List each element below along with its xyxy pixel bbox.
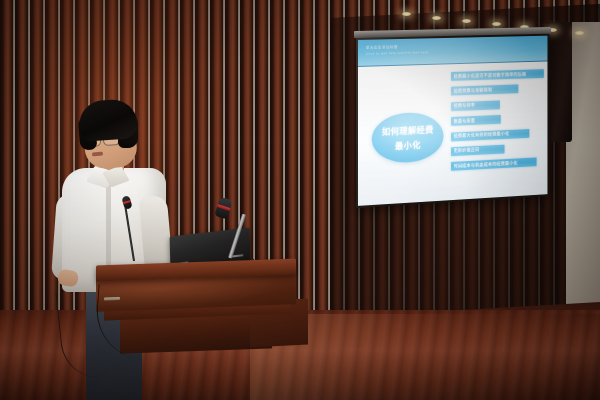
lecture-hall-photo: 单击此处添加标题 Click to add title subtitle tex…	[0, 0, 600, 400]
microphone-band-secondary	[123, 200, 131, 204]
slide-bar-text-0: 经费最小化是可不是对数字简单的压缩	[453, 71, 526, 79]
screen-frame: 单击此处添加标题 Click to add title subtitle tex…	[356, 34, 549, 208]
slide-bar-text-5: 无形价值正向	[453, 147, 479, 154]
ellipse-line-2: 最小化	[395, 138, 421, 151]
recessed-downlight-6	[575, 31, 584, 35]
projection-screen: 单击此处添加标题 Click to add title subtitle tex…	[356, 34, 549, 208]
microphone-band-main	[217, 204, 230, 211]
slide-bar-text-1: 经费预算与金额限制	[453, 87, 492, 94]
slide-bar-text-2: 经费与效率	[453, 103, 475, 110]
slide-bar-2: 经费与效率	[451, 100, 500, 111]
hanging-curtain	[546, 22, 572, 142]
slide-bar-0: 经费最小化是可不是对数字简单的压缩	[451, 69, 544, 81]
recessed-downlight-1	[432, 16, 441, 20]
slide-bar-3: 数量与质量	[451, 115, 501, 126]
recessed-downlight-0	[402, 12, 411, 16]
slide-title-en: Click to add title subtitle text here	[366, 50, 429, 56]
presentation-slide: 单击此处添加标题 Click to add title subtitle tex…	[358, 36, 547, 206]
slide-bar-1: 经费预算与金额限制	[451, 85, 518, 96]
presenter-hair	[78, 98, 139, 142]
slide-bar-text-4: 经费最大化有效的经费最小化	[453, 131, 509, 139]
slide-bar-list: 经费最小化是可不是对数字简单的压缩经费预算与金额限制经费与效率数量与质量经费最大…	[451, 69, 544, 171]
ellipse-line-1: 如何理解经费	[382, 123, 434, 137]
slide-bar-4: 经费最大化有效的经费最小化	[451, 129, 529, 141]
slide-bar-6: 时间成本与机会成本的经费最小化	[451, 158, 536, 171]
slide-body: 如何理解经费 最小化 经费最小化是可不是对数字简单的压缩经费预算与金额限制经费与…	[358, 61, 547, 205]
recessed-downlight-2	[462, 19, 471, 23]
slide-ellipse-label: 如何理解经费 最小化	[372, 111, 444, 164]
slide-bar-text-6: 时间成本与机会成本的经费最小化	[453, 160, 517, 169]
slide-bar-text-3: 数量与质量	[453, 118, 475, 125]
slide-title-cn: 单击此处添加标题	[366, 44, 398, 50]
recessed-downlight-3	[492, 22, 501, 26]
slide-bar-5: 无形价值正向	[451, 145, 504, 156]
